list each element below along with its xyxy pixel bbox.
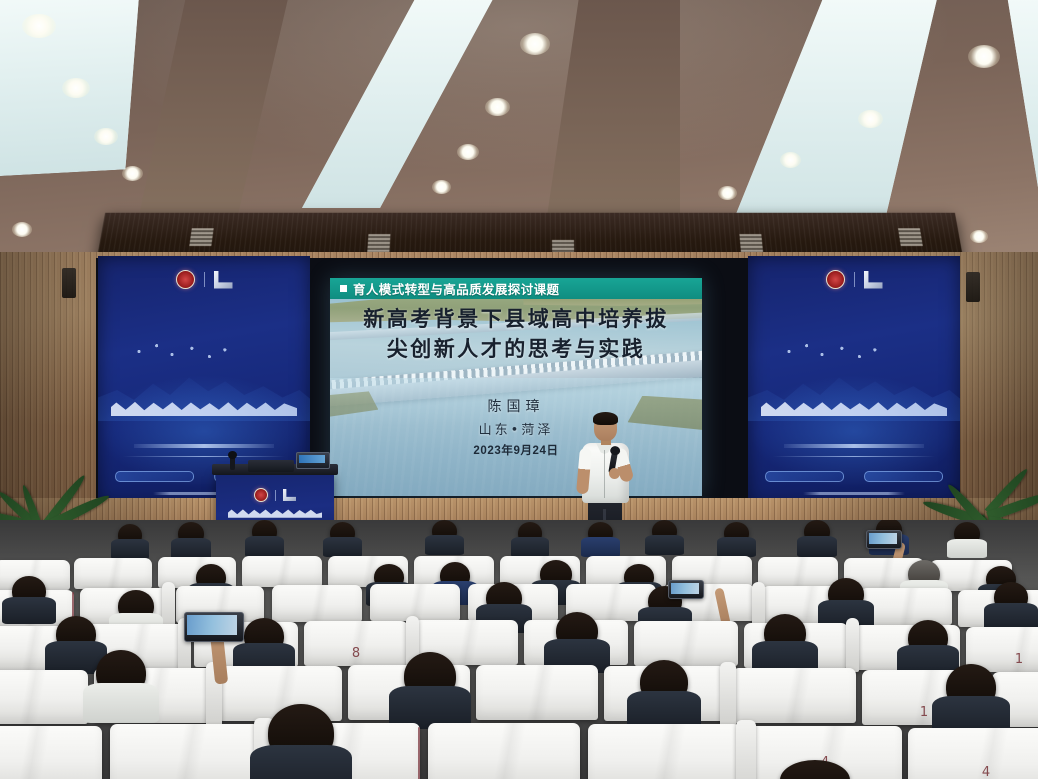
seat [74, 558, 152, 589]
downlight-icon [780, 152, 801, 168]
seat [0, 726, 102, 779]
audience-member [404, 652, 456, 700]
audience-member [518, 522, 542, 544]
audience-member [96, 650, 146, 696]
audience-member [12, 576, 46, 606]
presenter-hair [593, 412, 618, 425]
downlight-icon [858, 110, 883, 128]
slide-header-label: 育人模式转型与高品质发展探讨课题 [353, 279, 559, 298]
downlight-icon [12, 222, 32, 237]
audience-member [486, 582, 522, 614]
downlight-icon [432, 180, 451, 194]
red-circular-seal-icon [254, 488, 268, 502]
downlight-icon [122, 166, 143, 181]
audience-member [268, 704, 334, 762]
logo-divider [204, 272, 205, 287]
logo-divider [275, 490, 276, 501]
banner-birds-graphic [778, 341, 888, 367]
white-square-emblem-icon [283, 489, 296, 501]
wall-speaker-icon [62, 268, 76, 298]
audience-member [252, 520, 277, 543]
seat-divider [752, 582, 765, 626]
seat-divider [720, 662, 736, 728]
air-vent-icon [739, 234, 763, 252]
audience-area: 8 6 1 2 [0, 520, 1038, 779]
white-square-emblem-icon [864, 271, 883, 289]
seat: 8 [304, 621, 408, 666]
banner-date-pill [115, 471, 194, 482]
smartphone-icon [184, 612, 244, 642]
audience-member [56, 616, 96, 652]
banner-subtitle [784, 444, 924, 448]
banner-organizer-line-1 [748, 492, 960, 495]
audience-member [724, 522, 749, 544]
presenter-hand [609, 468, 620, 479]
air-vent-icon [367, 234, 390, 252]
audience-member [764, 614, 806, 652]
red-circular-seal-icon [176, 270, 195, 289]
logo-divider [854, 272, 855, 287]
gooseneck-microphone-icon [230, 456, 235, 470]
slide-speaker-location: 山东•菏泽 [330, 419, 702, 438]
smartphone-icon [866, 530, 902, 549]
audience-member [118, 524, 142, 546]
banner-birds-graphic [128, 341, 238, 367]
conference-banner-right [748, 256, 960, 506]
downlight-icon [520, 33, 550, 55]
seat: 4 [908, 728, 1038, 779]
seat-number: 4 [908, 765, 1038, 779]
seat-divider [846, 618, 859, 672]
seat [476, 665, 598, 720]
downlight-icon [457, 144, 479, 160]
wall-speaker-icon [966, 272, 980, 302]
white-square-emblem-icon [214, 271, 233, 289]
audience-member [652, 520, 677, 542]
audience-member [556, 612, 598, 650]
audience-member [908, 560, 940, 588]
projection-screen: 育人模式转型与高品质发展探讨课题 新高考背景下县域高中培养拔 尖创新人才的思考与… [330, 278, 702, 496]
audience-member [954, 522, 980, 545]
seat-number: 8 [304, 646, 408, 661]
banner-subtitle [134, 444, 274, 448]
banner-rule [773, 456, 934, 457]
seat [242, 556, 322, 587]
audience-member [640, 660, 688, 704]
seat-divider [162, 582, 175, 626]
audience-member [908, 620, 948, 656]
downlight-icon [94, 128, 118, 145]
banner-rule [123, 456, 284, 457]
slide-title-line-2: 尖创新人才的思考与实践 [330, 334, 702, 364]
audience-member [244, 618, 284, 654]
banner-logo-row [98, 270, 310, 289]
air-vent-icon [189, 228, 213, 246]
seat [758, 557, 838, 588]
audience-member [804, 520, 830, 543]
downlight-icon [718, 186, 737, 200]
square-bullet-icon [340, 285, 347, 292]
smartphone-icon [668, 580, 704, 599]
seat [0, 670, 88, 724]
audience-member [588, 522, 613, 544]
slide-speaker-name: 陈国璋 [330, 396, 702, 416]
seat [634, 621, 738, 666]
audience-member [946, 664, 996, 710]
slide-date: 2023年9月24日 [330, 442, 702, 458]
downlight-icon [968, 45, 1000, 68]
seat [732, 668, 856, 723]
audience-member [828, 578, 864, 610]
seat [588, 724, 740, 779]
podium-monitor [296, 452, 330, 469]
banner-pill-row [765, 471, 943, 482]
red-circular-seal-icon [826, 270, 845, 289]
banner-venue-pill [864, 471, 943, 482]
seat [110, 724, 260, 779]
seat [272, 585, 362, 622]
seat [428, 723, 580, 779]
downlight-icon [970, 230, 988, 243]
downlight-icon [22, 14, 56, 38]
slide-header-bar: 育人模式转型与高品质发展探讨课题 [330, 278, 702, 299]
downlight-icon [62, 78, 90, 98]
conference-hall-photo: 育人模式转型与高品质发展探讨课题 新高考背景下县域高中培养拔 尖创新人才的思考与… [0, 0, 1038, 779]
audience-member [432, 520, 457, 542]
podium-control-box [248, 460, 294, 472]
audience-member [994, 582, 1028, 612]
ceiling [0, 0, 1038, 262]
presenter-shirt-placket [604, 450, 605, 498]
audience-member [118, 590, 154, 622]
slide-byline: 陈国璋 山东•菏泽 2023年9月24日 [330, 396, 702, 458]
audience-member [330, 522, 355, 544]
podium-logo-row [216, 488, 334, 502]
podium-banner-title [228, 509, 322, 518]
seat-divider [736, 720, 756, 779]
slide-title: 新高考背景下县域高中培养拔 尖创新人才的思考与实践 [330, 304, 702, 364]
downlight-icon [485, 98, 510, 116]
slide-title-line-1: 新高考背景下县域高中培养拔 [330, 304, 702, 334]
audience-member [178, 522, 204, 545]
banner-logo-row [748, 270, 960, 289]
banner-date-pill [765, 471, 844, 482]
air-vent-icon [898, 228, 923, 246]
